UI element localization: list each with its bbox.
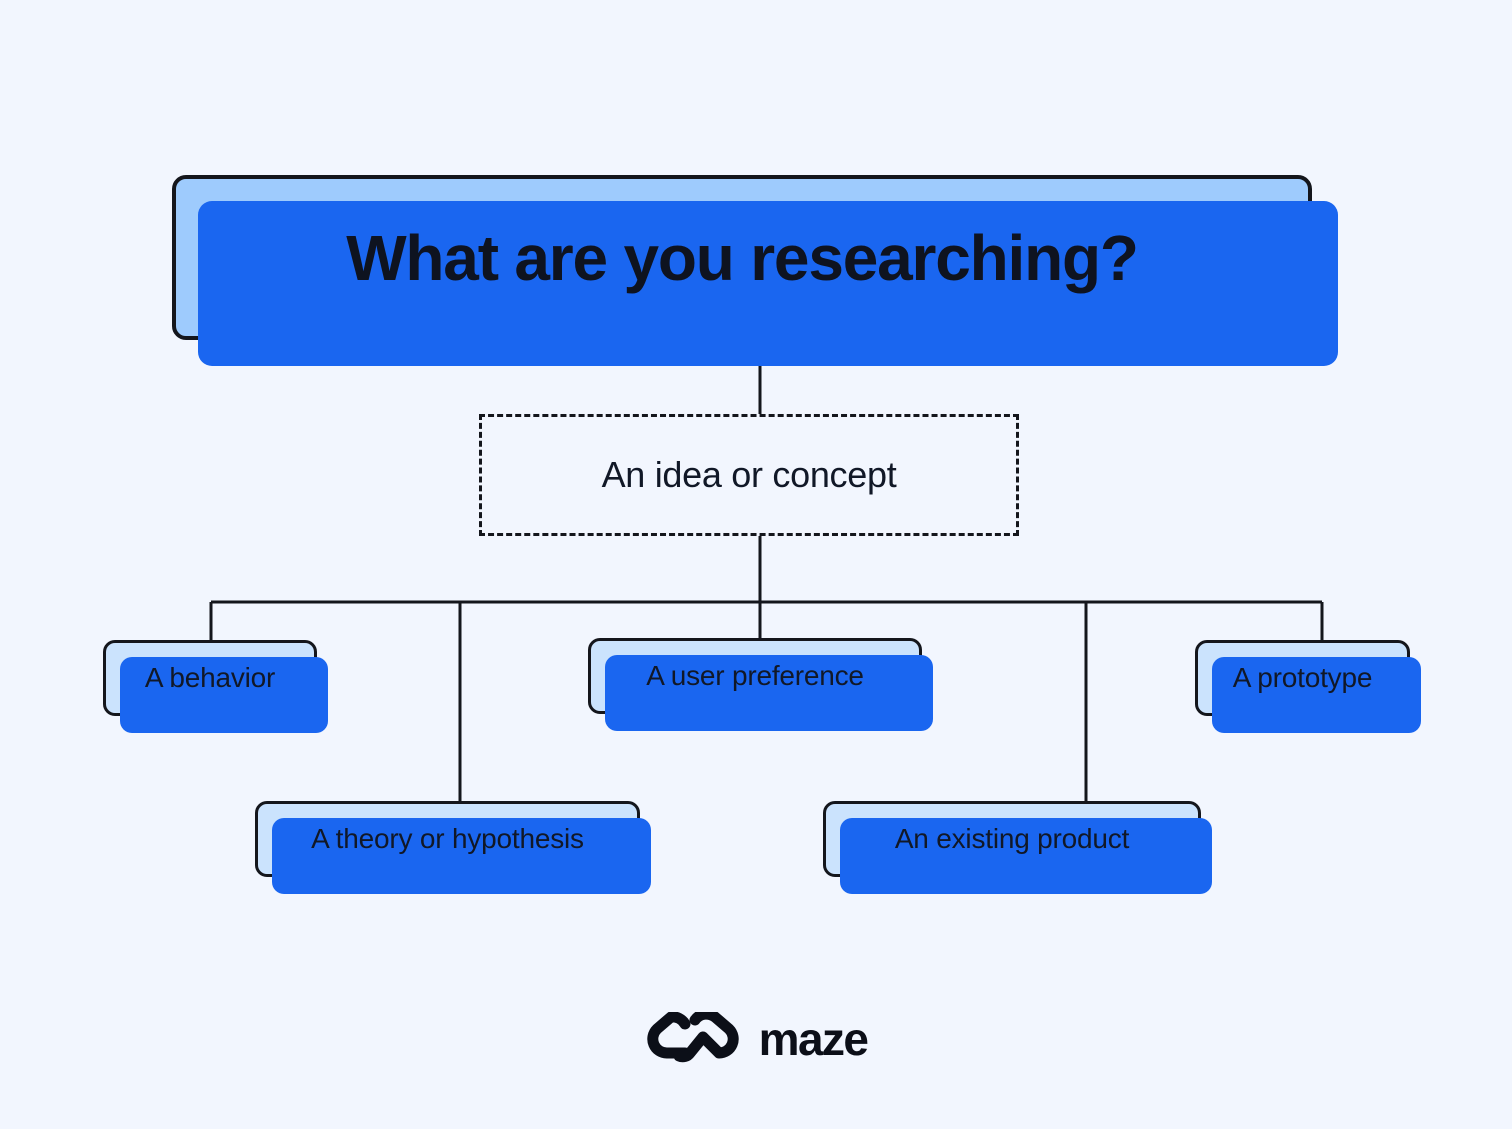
leaf-node-label: A prototype	[1233, 662, 1372, 694]
leaf-node-prototype[interactable]: A prototype	[1195, 640, 1410, 716]
diagram-canvas: What are you researching? An idea or con…	[0, 0, 1512, 1129]
leaf-node-existing-product[interactable]: An existing product	[823, 801, 1201, 877]
branch-node-label: An idea or concept	[602, 454, 897, 496]
branch-node-idea-or-concept[interactable]: An idea or concept	[479, 414, 1019, 536]
leaf-node-user-preference[interactable]: A user preference	[588, 638, 922, 714]
brand-logo: maze	[0, 1012, 1512, 1066]
maze-wordmark: maze	[759, 1012, 868, 1066]
maze-mountain-icon	[645, 1012, 741, 1066]
leaf-node-label: An existing product	[895, 823, 1129, 855]
leaf-node-behavior[interactable]: A behavior	[103, 640, 317, 716]
root-node-title[interactable]: What are you researching?	[172, 175, 1312, 340]
leaf-node-theory-or-hypothesis[interactable]: A theory or hypothesis	[255, 801, 640, 877]
root-node-label: What are you researching?	[346, 221, 1138, 295]
leaf-node-label: A behavior	[145, 662, 275, 694]
leaf-node-label: A user preference	[646, 660, 864, 692]
leaf-node-label: A theory or hypothesis	[311, 823, 584, 855]
connector-lines	[0, 0, 1512, 1129]
